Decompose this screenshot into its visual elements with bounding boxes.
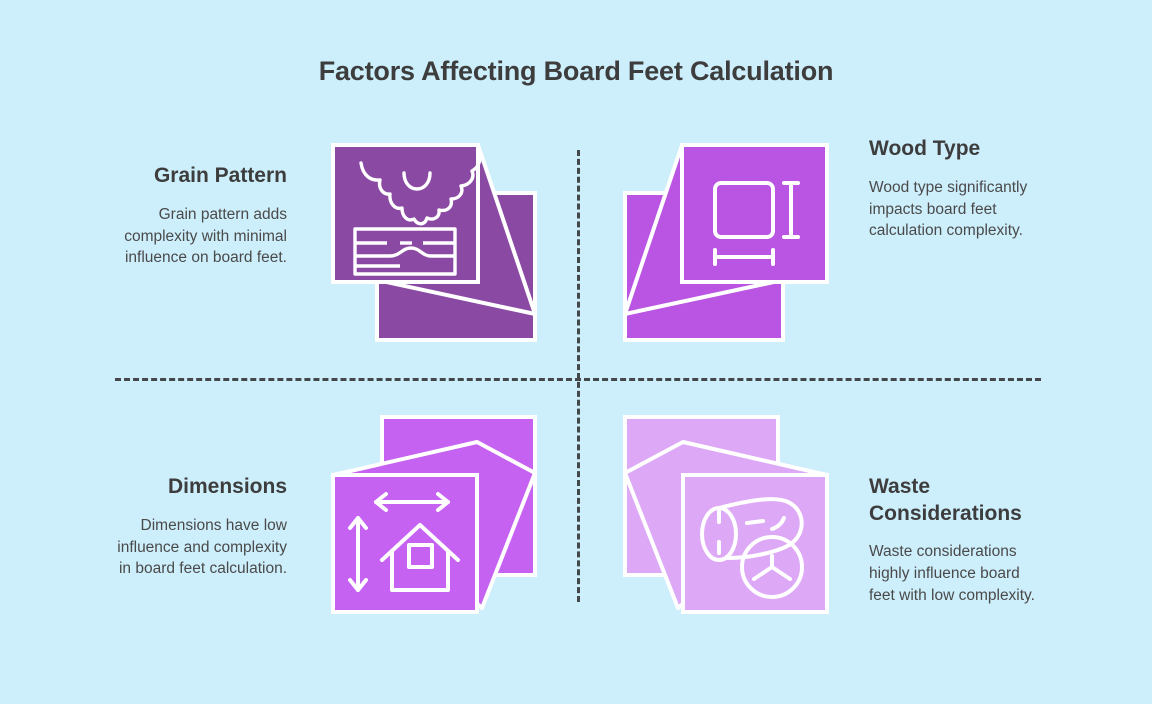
heading-dimensions: Dimensions — [105, 474, 287, 501]
quadrant-text-dimensions: Dimensions Dimensions have low influence… — [105, 474, 287, 580]
log-offcut-icon — [620, 412, 830, 617]
body-wood-type: Wood type significantly impacts board fe… — [869, 177, 1039, 243]
body-dimensions: Dimensions have low influence and comple… — [105, 515, 287, 581]
illustration-dimensions — [330, 412, 540, 617]
heading-waste-considerations: Waste Considerations — [869, 474, 1037, 527]
measure-square-icon — [620, 140, 830, 345]
vertical-divider — [577, 150, 580, 602]
quadrant-text-wood-type: Wood Type Wood type significantly impact… — [869, 136, 1039, 242]
body-waste-considerations: Waste considerations highly influence bo… — [869, 541, 1037, 607]
heading-grain-pattern: Grain Pattern — [105, 163, 287, 190]
wood-grain-knot-icon — [330, 140, 540, 345]
body-grain-pattern: Grain pattern adds complexity with minim… — [105, 204, 287, 270]
heading-wood-type: Wood Type — [869, 136, 1039, 163]
illustration-grain-pattern — [330, 140, 540, 345]
quadrant-text-grain-pattern: Grain Pattern Grain pattern adds complex… — [105, 163, 287, 269]
infographic-canvas: Factors Affecting Board Feet Calculation… — [0, 0, 1152, 704]
illustration-waste-considerations — [620, 412, 830, 617]
house-dimensions-arrows-icon — [330, 412, 540, 617]
page-title: Factors Affecting Board Feet Calculation — [0, 56, 1152, 87]
quadrant-text-waste-considerations: Waste Considerations Waste consideration… — [869, 474, 1037, 607]
illustration-wood-type — [620, 140, 830, 345]
